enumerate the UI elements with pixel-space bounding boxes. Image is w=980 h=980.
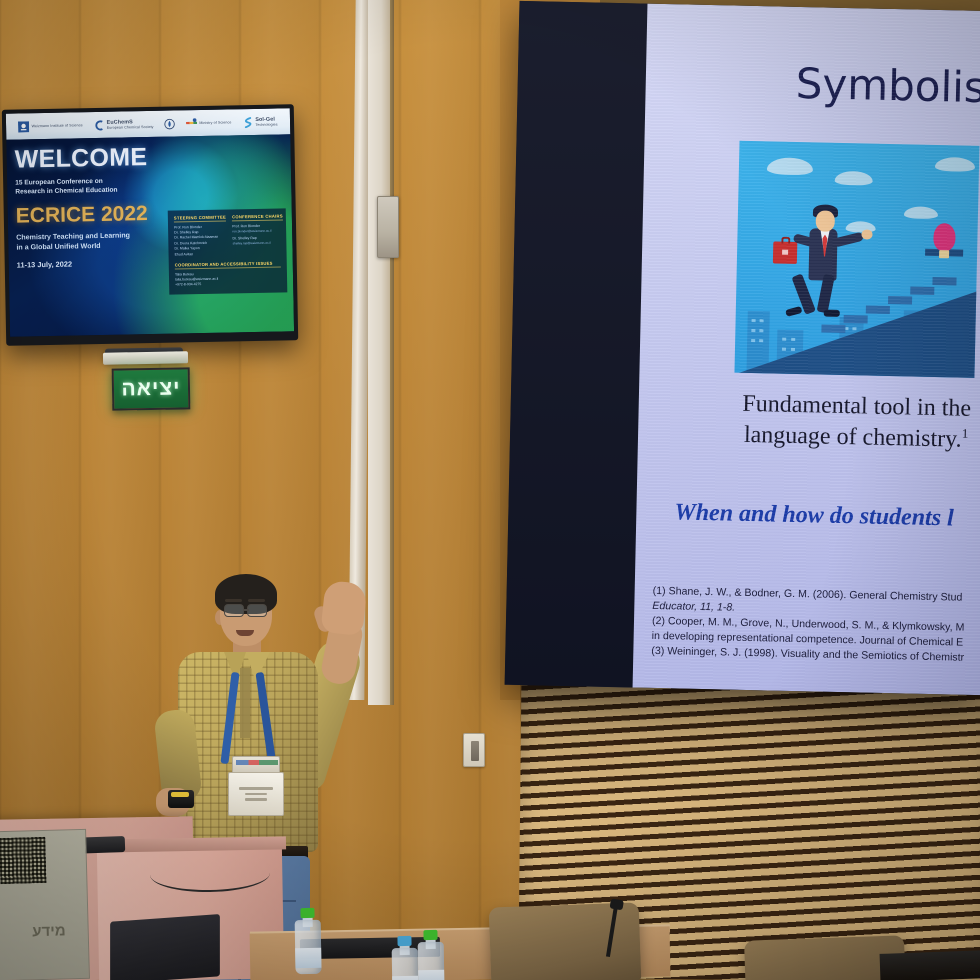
presentation-slide: Symbolism bbox=[633, 4, 980, 695]
weizmann-logo-label: Weizmann Institute of Science bbox=[32, 123, 83, 128]
conference-theme: Chemistry Teaching and Learning in a Glo… bbox=[16, 230, 181, 253]
conference-subtitle: 15 European Conference on Research in Ch… bbox=[15, 175, 180, 196]
weizmann-mark-icon bbox=[18, 121, 29, 132]
water-bottle[interactable] bbox=[417, 930, 444, 980]
welcome-heading: WELCOME bbox=[14, 144, 179, 172]
chair-email: shelley.rap@weizmann.ac.il bbox=[233, 240, 284, 246]
conference-chairs-column: CONFERENCE CHAIRS Prof. Ron Blonder ron.… bbox=[232, 213, 284, 256]
wall-bracket-plate bbox=[377, 196, 399, 258]
glasses-bridge bbox=[243, 609, 249, 611]
presentation-clicker[interactable] bbox=[168, 790, 194, 808]
conference-chairs-heading: CONFERENCE CHAIRS bbox=[232, 213, 283, 221]
weizmann-logo: Weizmann Institute of Science bbox=[18, 120, 82, 132]
projection-screen-unlit-area bbox=[505, 1, 648, 688]
cloud-icon bbox=[904, 206, 938, 219]
steering-committee-column: STEERING COMMITTEE Prof. Ron Blonder Dr.… bbox=[174, 215, 227, 258]
briefcase-handle-icon bbox=[781, 237, 790, 244]
businessman-hand bbox=[861, 229, 872, 239]
stair-step bbox=[910, 286, 934, 295]
glasses-lens-right bbox=[247, 604, 267, 617]
presenter-eyebrow-left bbox=[225, 599, 242, 602]
solgel-mark-icon bbox=[242, 116, 253, 127]
euchems-logo: EuChemS European Chemical Society bbox=[94, 118, 154, 130]
stair-step bbox=[888, 296, 912, 305]
bottle-cap bbox=[423, 930, 437, 940]
exit-sign: יציאה bbox=[112, 367, 191, 410]
badge-text-line bbox=[245, 793, 267, 796]
monitor-screen: Weizmann Institute of Science EuChemS Eu… bbox=[6, 108, 294, 336]
businessman-head bbox=[816, 210, 835, 231]
bottle-label bbox=[295, 948, 321, 968]
solgel-logo: Sol-Gel Technologies bbox=[242, 116, 277, 128]
ministry-mark-icon bbox=[186, 118, 197, 129]
presenter-eyebrow-right bbox=[248, 599, 265, 602]
coordinator-heading: COORDINATOR AND ACCESSIBILITY ISSUES bbox=[175, 261, 281, 270]
cloud-icon bbox=[835, 171, 873, 186]
presenter-raised-hand bbox=[320, 580, 367, 636]
welcome-block: WELCOME 15 European Conference on Resear… bbox=[14, 144, 181, 269]
conference-theme-line2: in a Global Unified World bbox=[16, 240, 181, 253]
committee-panel: STEERING COMMITTEE Prof. Ron Blonder Dr.… bbox=[168, 208, 288, 294]
circle-mark-icon bbox=[164, 118, 175, 129]
coordinator-phone: +972-8-934-4275 bbox=[175, 281, 281, 288]
solgel-logo-sub: Technologies bbox=[255, 123, 277, 127]
circle-logo bbox=[164, 118, 175, 129]
slide-statement-superscript: 1 bbox=[962, 426, 969, 441]
stair-step bbox=[821, 325, 845, 334]
bottle-label bbox=[392, 976, 418, 980]
glasses-lens-left bbox=[224, 604, 244, 617]
water-bottle[interactable] bbox=[294, 908, 321, 974]
steering-member: Ehud Avitan bbox=[175, 251, 227, 257]
projection-screen: Symbolism bbox=[505, 1, 980, 695]
poster-hebrew-text: מידע bbox=[1, 922, 65, 942]
wall-poster: מידע bbox=[0, 829, 90, 980]
steering-committee-heading: STEERING COMMITTEE bbox=[174, 215, 226, 223]
cloud-icon bbox=[935, 157, 975, 172]
lecture-hall-scene: Weizmann Institute of Science EuChemS Eu… bbox=[0, 0, 980, 980]
exit-sign-label: יציאה bbox=[121, 376, 180, 401]
slide-references: (1) Shane, J. W., & Bodner, G. M. (2006)… bbox=[651, 584, 980, 668]
qr-code-icon bbox=[0, 837, 46, 884]
stair-step bbox=[932, 277, 956, 286]
light-switch[interactable] bbox=[463, 733, 485, 767]
stair-step bbox=[844, 315, 868, 324]
euchems-logo-sub: European Chemical Society bbox=[107, 125, 154, 130]
open-laptop-lid[interactable] bbox=[110, 914, 220, 980]
cloud-icon bbox=[767, 157, 813, 175]
wall-monitor[interactable]: Weizmann Institute of Science EuChemS Eu… bbox=[2, 104, 298, 346]
euchems-mark-icon bbox=[94, 119, 105, 130]
briefcase-icon bbox=[773, 241, 797, 264]
stair-step bbox=[866, 305, 890, 314]
slide-statement: Fundamental tool in the language of chem… bbox=[706, 388, 980, 457]
bottle-cap bbox=[397, 936, 411, 946]
ministry-logo: Ministry of Science bbox=[186, 117, 231, 129]
slide-statement-line1: Fundamental tool in the bbox=[742, 391, 971, 422]
slide-title: Symbolism bbox=[795, 59, 980, 113]
monitor-slide-body: WELCOME 15 European Conference on Resear… bbox=[6, 134, 294, 336]
lightbulb-icon bbox=[933, 223, 956, 251]
name-badge bbox=[228, 772, 284, 816]
water-bottle[interactable] bbox=[391, 936, 418, 980]
slide-illustration bbox=[734, 141, 979, 378]
conference-dates: 11-13 July, 2022 bbox=[17, 258, 182, 270]
badge-text-line bbox=[245, 798, 267, 801]
ministry-logo-label: Ministry of Science bbox=[199, 120, 231, 125]
chair-email: ron.blonder@weizmann.ac.il bbox=[232, 228, 283, 234]
businessman-front-shoe bbox=[824, 310, 840, 317]
conference-subtitle-line2: Research in Chemical Education bbox=[15, 185, 180, 197]
emergency-light-fixture bbox=[103, 351, 188, 364]
businessman-back-shoe bbox=[785, 306, 802, 317]
presenter-shirt-placket bbox=[240, 668, 250, 738]
bottle-label bbox=[418, 970, 444, 980]
coordinator-block: Talia Buteau talia.buteau@weizmann.ac.il… bbox=[175, 270, 281, 288]
right-desk-surface bbox=[880, 950, 980, 980]
bottle-cap bbox=[300, 908, 314, 918]
slide-question: When and how do students l bbox=[674, 499, 954, 532]
badge-text-line bbox=[239, 787, 273, 790]
conference-name: ECRICE 2022 bbox=[16, 203, 181, 227]
chair-left[interactable] bbox=[489, 902, 642, 980]
slide-statement-line2: language of chemistry. bbox=[744, 422, 962, 453]
